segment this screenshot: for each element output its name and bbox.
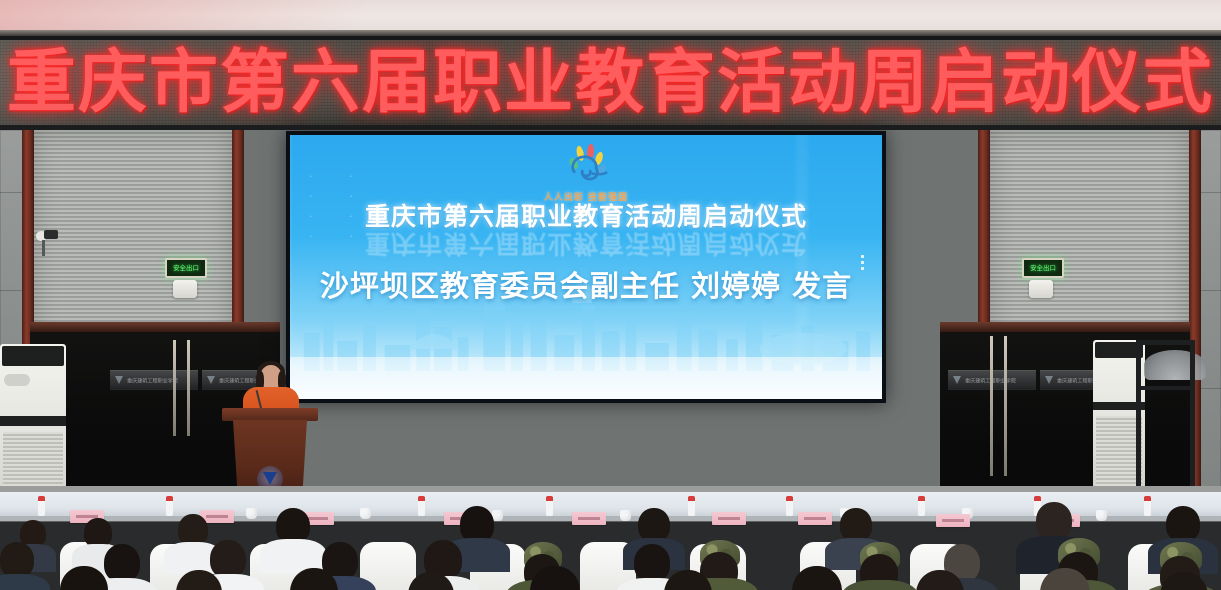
exit-sign-left: 安全出口 xyxy=(165,258,207,278)
ceiling xyxy=(0,0,1221,34)
banner-title-text: 重庆市第六届职业教育活动周启动仪式 xyxy=(0,49,1221,118)
name-card xyxy=(798,512,832,525)
wall-speaker-left xyxy=(173,280,197,298)
door-handle-left-1[interactable] xyxy=(173,340,176,436)
water-bottle xyxy=(166,496,173,516)
school-logo-icon xyxy=(1045,376,1053,384)
water-bottle xyxy=(546,496,553,516)
security-camera-left xyxy=(36,230,58,241)
tea-cup xyxy=(246,508,257,519)
door-handle-left-2[interactable] xyxy=(187,340,190,436)
podium-top-surface xyxy=(222,408,318,421)
vocational-education-week-logo-icon xyxy=(559,143,613,189)
school-logo-icon xyxy=(115,376,123,384)
name-card xyxy=(936,514,970,527)
water-bottle xyxy=(688,496,695,516)
exit-sign-right-text: 安全出口 xyxy=(1030,263,1056,272)
door-handle-right-1[interactable] xyxy=(990,336,993,476)
air-conditioner-left xyxy=(0,344,66,504)
banner-top-rail xyxy=(0,36,1221,40)
banner-bottom-rail xyxy=(0,125,1221,130)
conference-hall-scene: 重庆市第六届职业教育活动周启动仪式 xyxy=(0,0,1221,590)
door-name-plate-left-1: 重庆建筑工程职业学院 xyxy=(110,370,198,390)
audience-area xyxy=(0,486,1221,590)
event-logo-block: 人人出彩 技能强国 xyxy=(290,143,882,203)
door-handle-right-2[interactable] xyxy=(1004,336,1007,476)
school-logo-icon xyxy=(953,376,961,384)
exit-sign-left-text: 安全出口 xyxy=(173,263,199,272)
door-plate-left-1-text: 重庆建筑工程职业学院 xyxy=(127,376,178,384)
water-bottle xyxy=(786,496,793,516)
slide-canvas: 人人出彩 技能强国 重庆市第六届职业教育活动周启动仪式 重庆市第六届职业教育活动… xyxy=(290,135,882,399)
school-logo-icon xyxy=(207,376,215,384)
tea-cup xyxy=(1096,510,1107,521)
slide-subtitle-text: 沙坪坝区教育委员会副主任 刘婷婷 发言 xyxy=(290,263,882,305)
water-bottle xyxy=(1144,496,1151,516)
led-banner: 重庆市第六届职业教育活动周启动仪式 xyxy=(0,36,1221,130)
water-bottle xyxy=(918,496,925,516)
exit-sign-right: 安全出口 xyxy=(1022,258,1064,278)
door-header-left xyxy=(30,322,280,332)
tea-cup xyxy=(620,510,631,521)
slide-title-text: 重庆市第六届职业教育活动周启动仪式 xyxy=(290,197,882,233)
led-display-screen: 人人出彩 技能强国 重庆市第六届职业教育活动周启动仪式 重庆市第六届职业教育活动… xyxy=(286,131,886,403)
tea-cup xyxy=(360,508,371,519)
name-card xyxy=(572,512,606,525)
name-card xyxy=(712,512,746,525)
water-reflection-band xyxy=(290,357,882,399)
wall-speaker-right xyxy=(1029,280,1053,298)
door-header-right xyxy=(940,322,1190,332)
camera-tripod-rig xyxy=(1128,340,1208,490)
softbox-umbrella xyxy=(1144,350,1206,380)
water-bottle xyxy=(38,496,45,516)
water-bottle xyxy=(418,496,425,516)
